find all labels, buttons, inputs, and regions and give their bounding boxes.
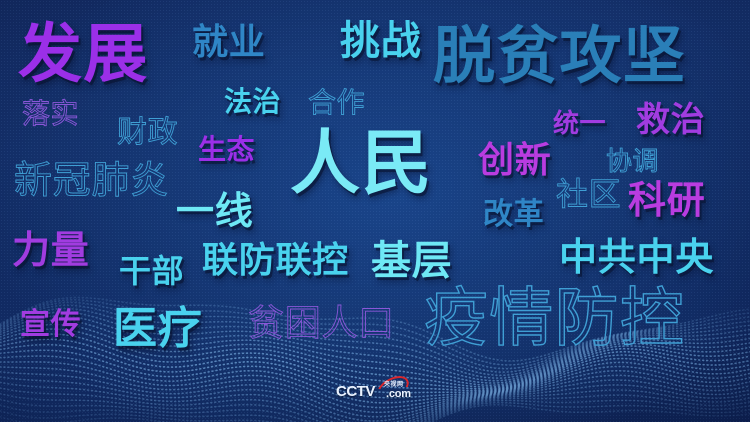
cctv-brand-text: CCTV bbox=[336, 383, 375, 400]
word-shengtai: 生态 bbox=[198, 136, 255, 164]
word-xinguanfeiyan: 新冠肺炎 bbox=[14, 162, 169, 200]
word-jiceng: 基层 bbox=[371, 241, 453, 281]
word-list: 发展就业挑战脱贫攻坚落实法治合作统一救治财政生态人民创新协调新冠肺炎社区科研一线… bbox=[0, 0, 750, 422]
word-jiuzhi: 救治 bbox=[636, 103, 705, 137]
word-chuangxin: 创新 bbox=[478, 142, 551, 178]
word-gaige: 改革 bbox=[483, 200, 544, 230]
word-jiuye: 就业 bbox=[192, 24, 265, 60]
word-tuopingongjian: 脱贫攻坚 bbox=[433, 26, 686, 88]
word-caizheng: 财政 bbox=[117, 118, 178, 148]
word-luoshi: 落实 bbox=[22, 100, 79, 128]
word-xietiao: 协调 bbox=[606, 148, 659, 174]
word-zhonggongzy: 中共中央 bbox=[559, 239, 714, 277]
word-yiqingfangkong: 疫情防控 bbox=[424, 286, 685, 350]
word-hezuo: 合作 bbox=[308, 89, 365, 117]
word-yiliao: 医疗 bbox=[113, 307, 203, 351]
word-tiaozhan: 挑战 bbox=[340, 21, 422, 61]
word-ganbu: 干部 bbox=[119, 255, 184, 287]
word-yixian: 一线 bbox=[176, 193, 254, 231]
word-liliang: 力量 bbox=[12, 232, 90, 270]
word-cloud-canvas: 发展就业挑战脱贫攻坚落实法治合作统一救治财政生态人民创新协调新冠肺炎社区科研一线… bbox=[0, 0, 750, 422]
word-pinkunrenkou: 贫困人口 bbox=[248, 305, 395, 341]
word-tongyi: 统一 bbox=[553, 110, 606, 136]
word-xuanchuan: 宣传 bbox=[20, 310, 81, 340]
word-keyan: 科研 bbox=[628, 182, 706, 220]
word-fazhan: 发展 bbox=[18, 22, 149, 86]
cctv-watermark: CCTV 央视网 .com bbox=[336, 378, 420, 402]
cctv-cn-label: 央视网 bbox=[384, 379, 404, 388]
word-fazhi: 法治 bbox=[224, 88, 281, 116]
cctv-domain-text: .com bbox=[386, 388, 411, 400]
word-shequ: 社区 bbox=[556, 178, 621, 210]
word-lianfanglk: 联防联控 bbox=[202, 242, 349, 278]
word-renmin: 人民 bbox=[290, 128, 433, 198]
